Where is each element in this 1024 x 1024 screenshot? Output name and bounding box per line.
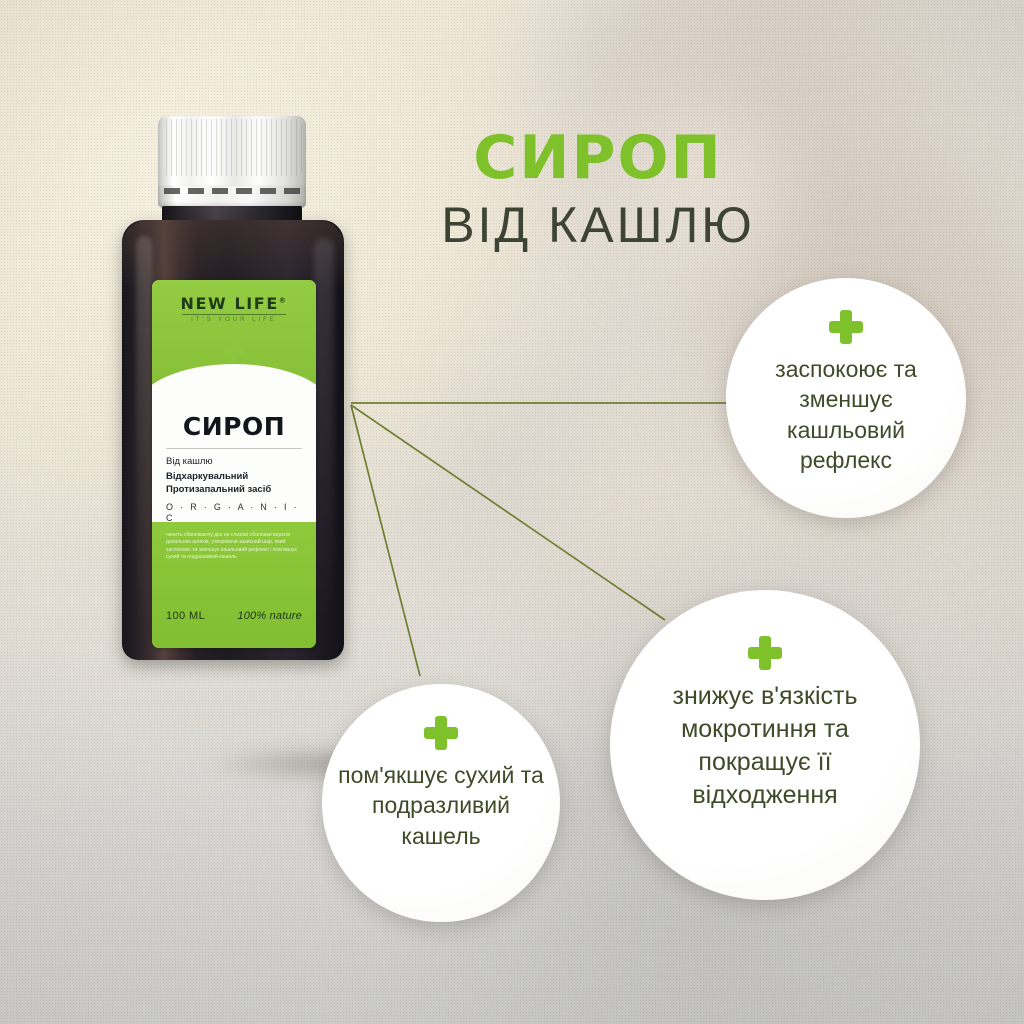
brand-tagline: IT'S YOUR LIFE [152, 317, 316, 323]
headline-primary: СИРОП [388, 128, 808, 188]
label-subtitle: Від кашлю [166, 456, 306, 468]
bottle-highlight-right [314, 238, 334, 633]
brand-logo: NEW LIFE® [152, 294, 316, 313]
medical-cross-icon [829, 310, 863, 344]
label-volume: 100 ML [166, 610, 205, 622]
medical-cross-icon [224, 342, 244, 362]
headline: СИРОП ВІД КАШЛЮ [388, 128, 808, 250]
product-bottle: NEW LIFE® IT'S YOUR LIFE СИРОП Від кашлю… [100, 108, 360, 668]
bottle-highlight-left [136, 236, 152, 636]
infographic-canvas: СИРОП ВІД КАШЛЮ NEW LIFE® IT'S YOUR LIFE… [0, 0, 1024, 1024]
product-label: NEW LIFE® IT'S YOUR LIFE СИРОП Від кашлю… [152, 280, 316, 648]
benefit-bubble-text: заспокоює та зменшує кашльовий рефлекс [746, 354, 946, 475]
label-divider [166, 448, 302, 449]
benefit-bubble-text: знижує в'язкість мокротиння та покращує … [625, 680, 905, 812]
brand-name: NEW LIFE [181, 294, 279, 313]
label-product-name: СИРОП [152, 412, 316, 441]
cap-ribbing [162, 119, 302, 176]
tamper-ring-teeth [164, 188, 300, 194]
label-benefit-2: Протизапальний засіб [166, 484, 306, 496]
benefit-bubble-calms-reflex[interactable]: заспокоює та зменшує кашльовий рефлекс [726, 278, 966, 518]
label-nature-claim: 100% nature [237, 610, 302, 622]
brand-underline [182, 314, 286, 315]
benefit-bubble-reduces-viscosity[interactable]: знижує в'язкість мокротиння та покращує … [610, 590, 920, 900]
benefit-bubble-text: пом'якшує сухий та подразливий кашель [336, 760, 546, 851]
label-description: чинить обволікаючу дію на слизові оболон… [166, 532, 302, 562]
label-benefit-1: Відхаркувальний [166, 471, 306, 483]
registered-mark: ® [279, 297, 288, 305]
medical-cross-icon [424, 716, 458, 750]
benefit-bubble-softens-cough[interactable]: пом'якшує сухий та подразливий кашель [322, 684, 560, 922]
headline-secondary: ВІД КАШЛЮ [388, 200, 808, 250]
medical-cross-icon [748, 636, 782, 670]
bottle-cap [158, 116, 306, 192]
